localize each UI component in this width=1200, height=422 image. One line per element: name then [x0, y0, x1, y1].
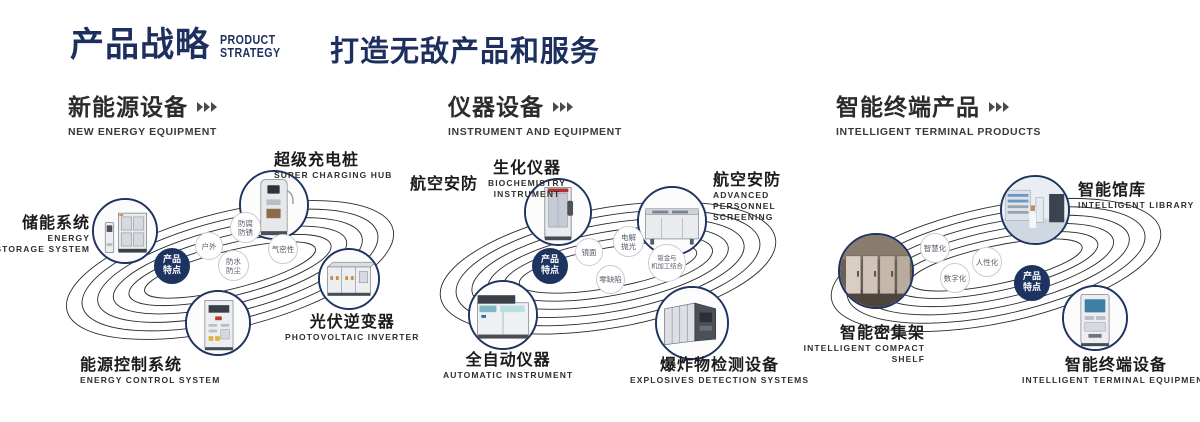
smart-library-icon	[1002, 177, 1068, 243]
caption-en: ENERGY CONTROL SYSTEM	[80, 375, 220, 386]
compact-shelf-icon	[840, 235, 912, 307]
control-cabinet-icon	[187, 292, 249, 354]
feature-bubble-mirror-finish[interactable]: 镜面	[575, 238, 603, 266]
caption-super-charging-hub: 超级充电桩 SUPER CHARGING HUB	[274, 150, 393, 181]
caption-advanced-personnel-screening: 航空安防 ADVANCED PERSONNEL SCREENING	[713, 170, 805, 223]
center-bubble-product-features[interactable]: 产品特点	[1014, 265, 1050, 301]
infographic-canvas: 产品战略 PRODUCT STRATEGY 打造无敌产品和服务 新能源设备 NE…	[0, 0, 1200, 422]
caption-cn: 智能终端设备	[1022, 355, 1200, 374]
caption-cn: 生化仪器	[472, 158, 582, 177]
feature-bubble-electropolishing[interactable]: 电解抛光	[613, 226, 644, 257]
node-intelligent-library[interactable]	[1000, 175, 1070, 245]
caption-en: SUPER CHARGING HUB	[274, 170, 393, 181]
feature-bubble-anticorrosion[interactable]: 防腐防锈	[230, 212, 261, 243]
section-title-en: INTELLIGENT TERMINAL PRODUCTS	[836, 126, 1041, 138]
chevron-right-icon	[197, 102, 217, 114]
node-automatic-instrument[interactable]	[468, 280, 538, 350]
caption-cn: 航空安防	[410, 174, 478, 193]
automatic-instrument-icon	[470, 282, 536, 348]
feature-bubble-outdoor[interactable]: 户外	[195, 232, 223, 260]
section-title-en: INSTRUMENT AND EQUIPMENT	[448, 126, 622, 138]
caption-intelligent-library: 智能馆库 INTELLIGENT LIBRARY	[1078, 180, 1194, 211]
cluster-instrument: 产品特点 镜面 电解抛光 钣金与机加工结合 零缺陷 航空安防 生化仪器 BIOC…	[410, 150, 810, 390]
chevron-right-icon	[989, 102, 1009, 114]
node-explosives-detection-systems[interactable]	[655, 286, 729, 360]
caption-cn: 光伏逆变器	[285, 312, 420, 331]
caption-en: ADVANCED PERSONNEL SCREENING	[713, 190, 805, 223]
caption-en: AUTOMATIC INSTRUMENT	[443, 370, 573, 381]
caption-photovoltaic-inverter: 光伏逆变器 PHOTOVOLTAIC INVERTER	[285, 312, 420, 343]
caption-cn: 智能密集架	[780, 323, 925, 342]
center-bubble-text: 产品特点	[541, 255, 559, 277]
page-subtitle: 打造无敌产品和服务	[330, 34, 600, 68]
section-title-cn: 新能源设备	[68, 95, 188, 121]
caption-intelligent-compact-shelf: 智能密集架 INTELLIGENT COMPACT SHELF	[780, 323, 925, 365]
caption-cn: 全自动仪器	[443, 350, 573, 369]
caption-en: ENERGY STORAGE SYSTEM	[0, 233, 90, 255]
feature-bubble-airtightness[interactable]: 气密性	[268, 234, 298, 264]
chevron-right-icon	[553, 102, 573, 114]
center-bubble-text: 产品特点	[1023, 272, 1041, 294]
caption-cn: 能源控制系统	[80, 355, 220, 374]
section-title-en: NEW ENERGY EQUIPMENT	[68, 126, 217, 138]
caption-energy-storage-system: 储能系统 ENERGY STORAGE SYSTEM	[0, 213, 90, 255]
feature-bubble-sheetmetal-machining[interactable]: 钣金与机加工结合	[648, 244, 686, 282]
caption-cn: 储能系统	[0, 213, 90, 232]
node-photovoltaic-inverter[interactable]	[318, 248, 380, 310]
section-heading-new-energy: 新能源设备 NEW ENERGY EQUIPMENT	[68, 95, 217, 138]
section-title-cn: 仪器设备	[448, 95, 544, 121]
feature-bubble-zero-defect[interactable]: 零缺陷	[596, 265, 625, 294]
center-bubble-product-features[interactable]: 产品特点	[532, 248, 568, 284]
caption-en: INTELLIGENT LIBRARY	[1078, 200, 1194, 211]
node-energy-control-system[interactable]	[185, 290, 251, 356]
node-intelligent-terminal-equipment[interactable]	[1062, 285, 1128, 351]
section-title-cn: 智能终端产品	[836, 95, 980, 121]
caption-en: EXPLOSIVES DETECTION SYSTEMS	[630, 375, 809, 386]
feature-bubble-intelligence[interactable]: 智慧化	[920, 233, 950, 263]
cluster-new-energy: 产品特点 户外 防腐防锈 防水防尘 气密性 储能系统 ENERGY STORAG…	[30, 150, 430, 390]
feature-bubble-digitalization[interactable]: 数字化	[940, 263, 970, 293]
section-heading-intelligent-terminal: 智能终端产品 INTELLIGENT TERMINAL PRODUCTS	[836, 95, 1041, 138]
battery-cabinet-icon	[94, 200, 156, 262]
feature-bubble-humanization[interactable]: 人性化	[972, 247, 1002, 277]
caption-en: INTELLIGENT TERMINAL EQUIPMENT	[1022, 375, 1200, 386]
caption-intelligent-terminal-equipment: 智能终端设备 INTELLIGENT TERMINAL EQUIPMENT	[1022, 355, 1200, 386]
caption-cn: 超级充电桩	[274, 150, 393, 169]
terminal-kiosk-icon	[1064, 287, 1126, 349]
cluster-intelligent-terminal: 智慧化 人性化 数字化 产品特点 智能馆库 INTELLIGENT LIBRAR…	[800, 155, 1200, 395]
feature-bubble-waterproof[interactable]: 防水防尘	[218, 250, 249, 281]
page-title-en: PRODUCT STRATEGY	[220, 33, 281, 64]
caption-biochemistry-instrument: 生化仪器 BIOCHEMISTRY INSTRUMENT	[472, 158, 582, 200]
caption-aviation-security-left: 航空安防	[410, 174, 478, 193]
caption-cn: 智能馆库	[1078, 180, 1194, 199]
page-title-cn: 产品战略	[70, 26, 210, 64]
caption-en: PHOTOVOLTAIC INVERTER	[285, 332, 420, 343]
caption-cn: 航空安防	[713, 170, 805, 189]
center-bubble-text: 产品特点	[163, 255, 181, 277]
caption-en: BIOCHEMISTRY INSTRUMENT	[472, 178, 582, 200]
page-title: 产品战略 PRODUCT STRATEGY	[70, 26, 294, 64]
caption-energy-control-system: 能源控制系统 ENERGY CONTROL SYSTEM	[80, 355, 220, 386]
page-title-en-line2: STRATEGY	[220, 46, 281, 59]
caption-en: INTELLIGENT COMPACT SHELF	[780, 343, 925, 365]
caption-automatic-instrument: 全自动仪器 AUTOMATIC INSTRUMENT	[443, 350, 573, 381]
inverter-cabinet-icon	[320, 250, 378, 308]
center-bubble-product-features[interactable]: 产品特点	[154, 248, 190, 284]
node-energy-storage-system[interactable]	[92, 198, 158, 264]
node-intelligent-compact-shelf[interactable]	[838, 233, 914, 309]
explosives-detector-icon	[657, 288, 727, 358]
section-heading-instrument: 仪器设备 INSTRUMENT AND EQUIPMENT	[448, 95, 622, 138]
